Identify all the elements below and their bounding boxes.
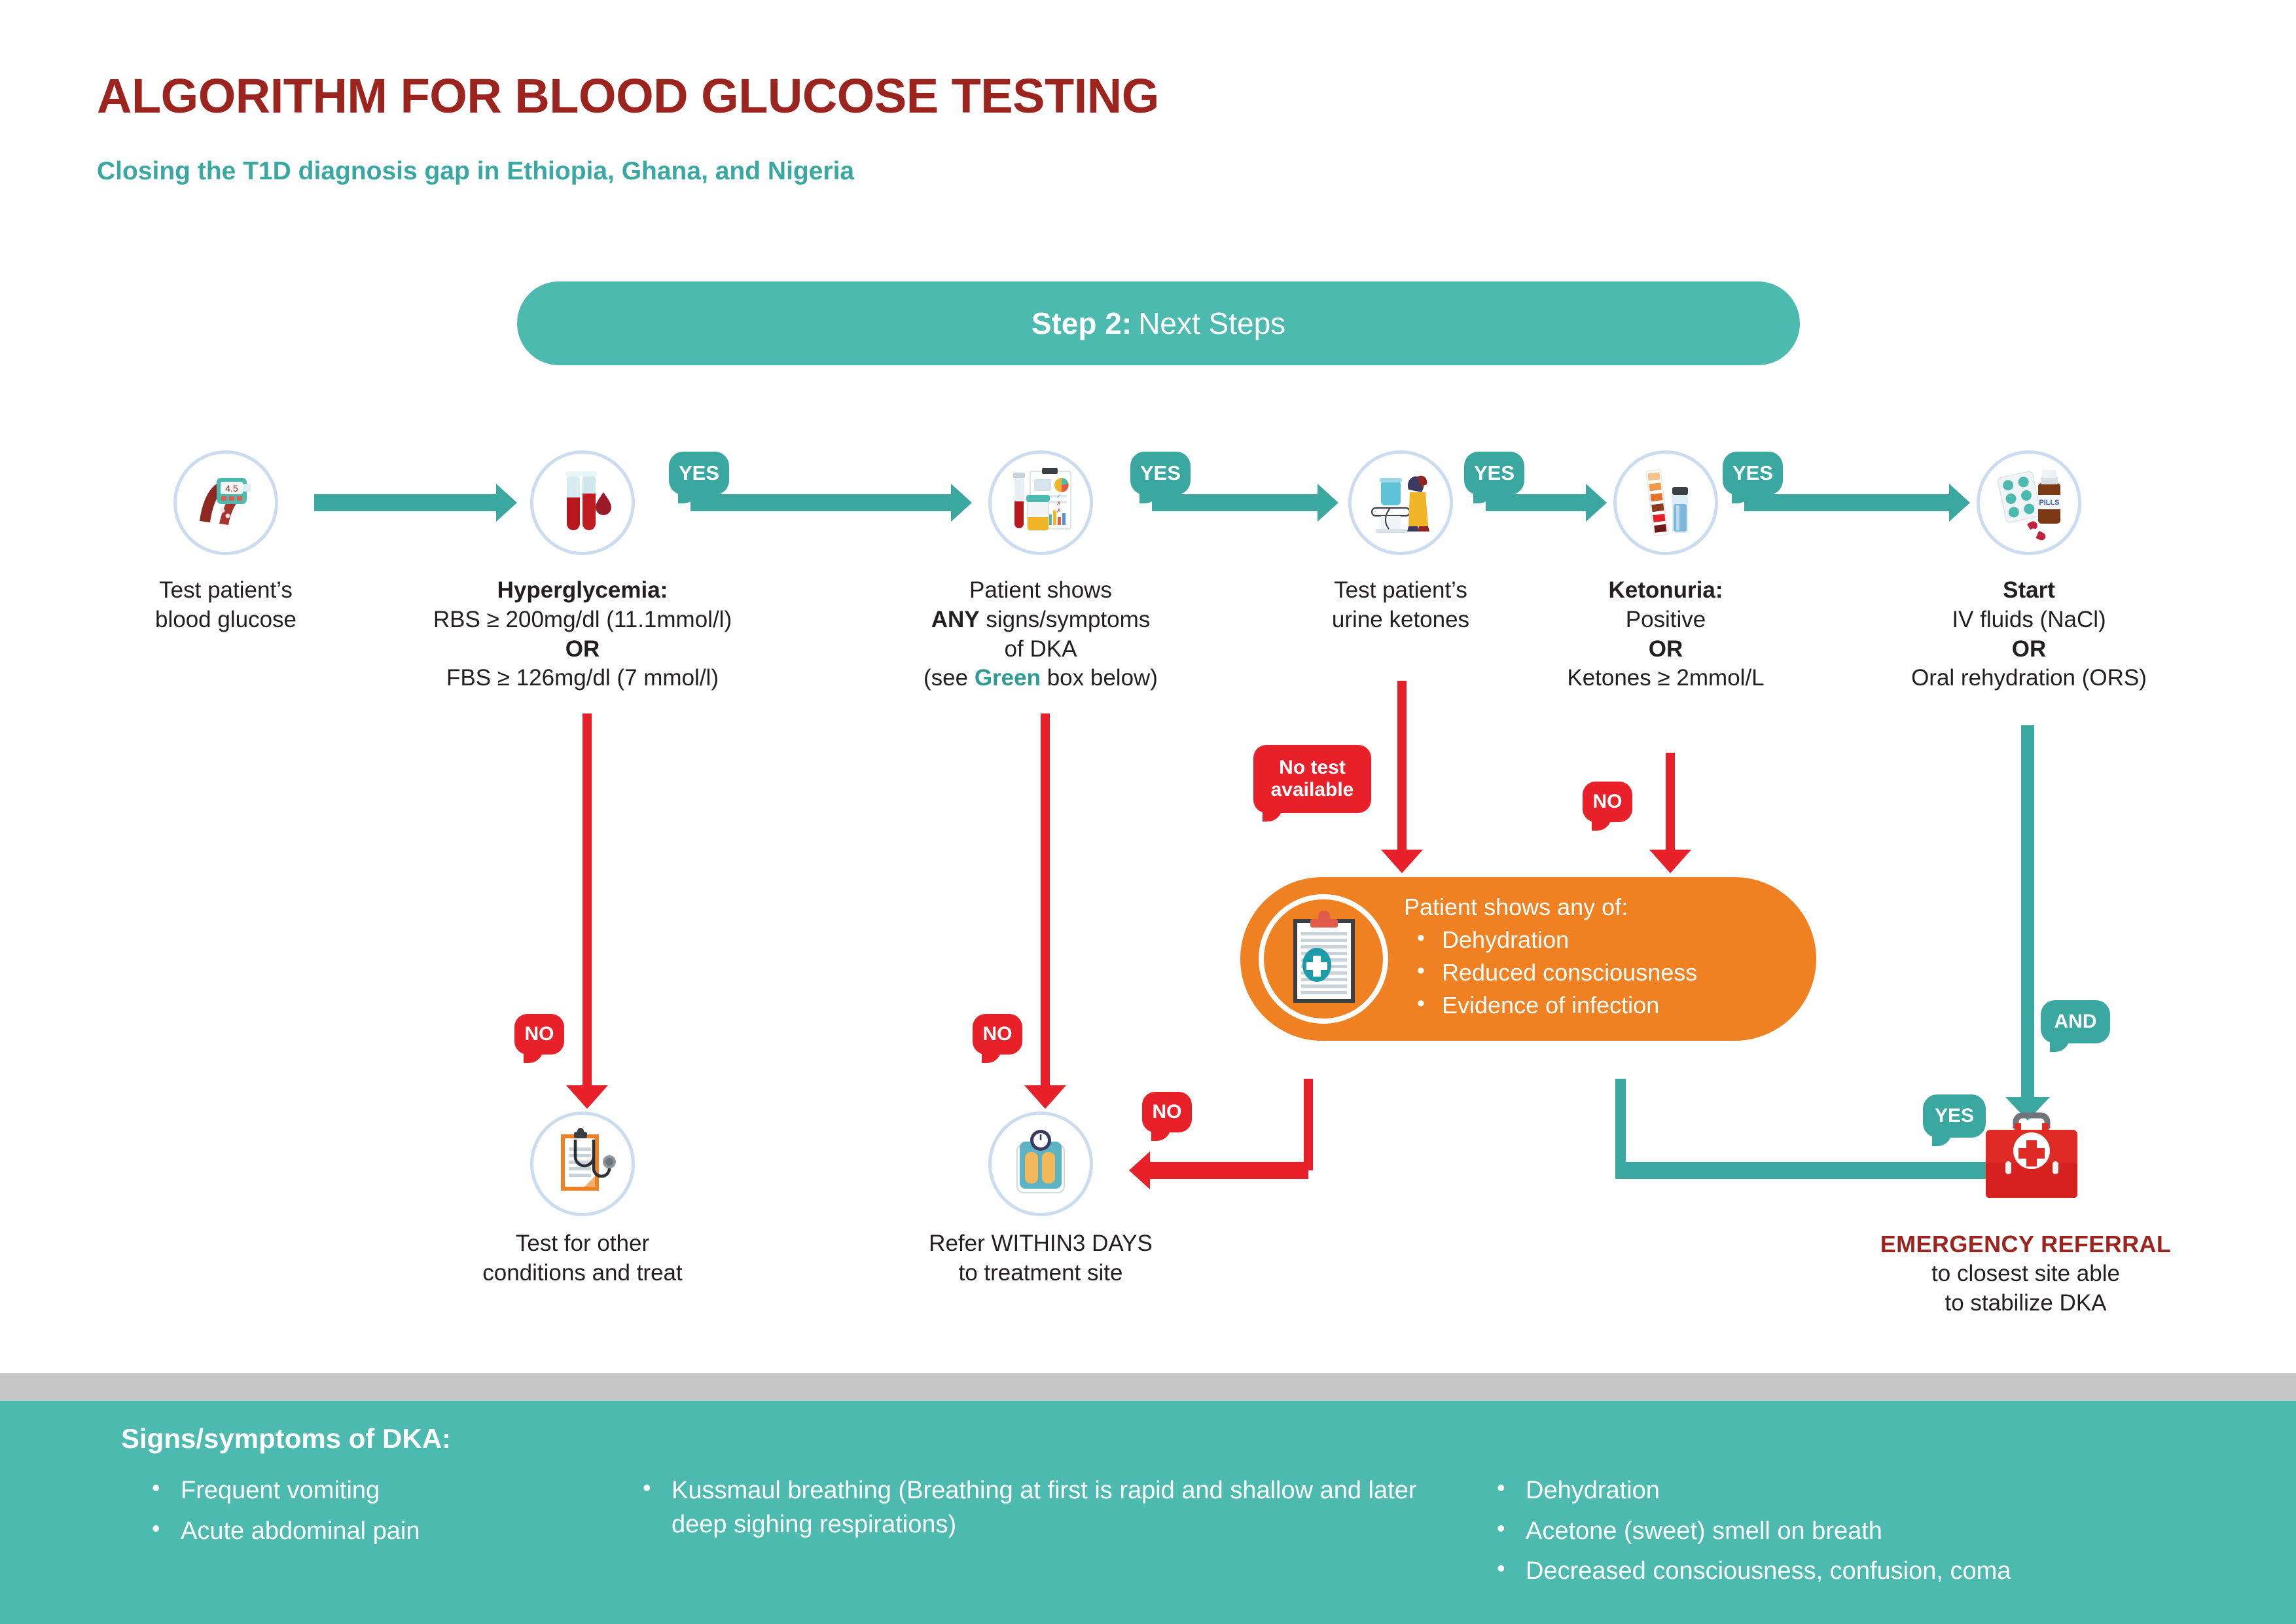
elbow-yes-orange-vertical [1615,1079,1626,1170]
svg-text:✓: ✓ [1056,493,1062,499]
pills-bottle-icon: PILLS [1977,450,2081,555]
svg-text:PILLS: PILLS [2039,499,2059,507]
orange-box-item: Evidence of infection [1442,994,1697,1017]
blood-test-tubes-icon [530,450,635,555]
node-label-start-fluids: Start IV fluids (NaCl) OR Oral rehydrati… [1852,576,2206,693]
node-label-dka-signs: Patient shows ANY signs/symptoms of DKA … [880,576,1201,693]
node-label-urine-ketones: Test patient’s urine ketones [1247,576,1554,635]
step-banner-step: Step 2: [1031,306,1132,341]
weight-scale-icon [988,1111,1093,1216]
dka-column-3: Dehydration Acetone (sweet) smell on bre… [1482,1474,2011,1595]
dka-list-item: Dehydration [1482,1474,2011,1508]
badge-and: AND [2041,1000,2110,1043]
badge-yes-ketonuria: YES [1723,452,1783,495]
dka-box-title: Signs/symptoms of DKA: [121,1423,451,1454]
outcome-label-test-other: Test for other conditions and treat [412,1229,753,1288]
arrow-no-dka-signs [1041,713,1050,1087]
arrow-no-orange-to-refer [1149,1162,1308,1179]
arrow-dka-signs-to-ketones [1152,494,1319,511]
orange-box-item: Reduced consciousness [1442,961,1697,984]
arrow-hyperglycemia-to-dka-signs [691,494,952,511]
arrow-no-ketonuria [1666,753,1675,851]
svg-text:✗: ✗ [1056,507,1062,514]
glucometer-icon: 4.5 [173,450,278,555]
dka-list-item: Acute abdominal pain [137,1515,420,1549]
badge-yes-hyperglycemia: YES [669,452,729,495]
dka-column-2: Kussmaul breathing (Breathing at first i… [628,1474,1433,1548]
clipboard-stethoscope-icon [530,1111,635,1216]
arrow-no-test-available [1397,681,1407,851]
node-label-test-glucose: Test patient’s blood glucose [75,576,376,635]
svg-text:✗: ✗ [1056,500,1062,507]
badge-no-test-available: No test available [1253,745,1371,813]
dka-column-1: Frequent vomiting Acute abdominal pain [137,1474,420,1555]
badge-no-ketonuria: NO [1583,782,1632,822]
node-label-ketonuria: Ketonuria: Positive OR Ketones ≥ 2mmol/L [1512,576,1820,693]
first-aid-kit-icon [1977,1106,2087,1206]
badge-no-orange-box: NO [1142,1092,1192,1132]
arrow-and-start-fluids [2021,725,2034,1098]
svg-text:4.5: 4.5 [225,483,238,494]
orange-box-item: Dehydration [1442,928,1697,952]
arrow-ketonuria-to-start [1744,494,1950,511]
orange-criteria-box: Patient shows any of: Dehydration Reduce… [1240,877,1816,1041]
orange-box-heading: Patient shows any of: [1404,895,1697,919]
ketone-test-strip-icon [1613,450,1718,555]
dka-list-item: Kussmaul breathing (Breathing at first i… [628,1474,1433,1542]
clipboard-medical-icon [1259,894,1388,1024]
arrow-glucose-to-hyperglycemia [314,494,497,511]
step-banner-text: Next Steps [1138,306,1285,341]
gray-divider-band [0,1373,2296,1401]
arrow-ketones-to-ketonuria [1486,494,1587,511]
page-title: ALGORITHM FOR BLOOD GLUCOSE TESTING [97,68,1159,124]
badge-yes-ketones: YES [1464,452,1524,495]
step-banner: Step 2: Next Steps [517,281,1800,365]
arrow-no-hyperglycemia [583,713,592,1087]
dka-list-item: Frequent vomiting [137,1474,420,1508]
orange-box-text: Patient shows any of: Dehydration Reduce… [1404,895,1697,1026]
toilet-patient-icon [1348,450,1453,555]
dka-list-item: Acetone (sweet) smell on breath [1482,1515,2011,1549]
elbow-no-orange-vertical [1304,1079,1313,1170]
badge-yes-dka-signs: YES [1130,452,1191,495]
node-label-hyperglycemia: Hyperglycemia: RBS ≥ 200mg/dl (11.1mmol/… [373,576,792,693]
outcome-label-refer-3-days: Refer WITHIN3 DAYS to treatment site [870,1229,1211,1288]
page-subtitle: Closing the T1D diagnosis gap in Ethiopi… [97,157,854,186]
badge-no-hyperglycemia: NO [514,1014,564,1055]
lab-report-icon: ✓ ✗ ✗ [988,450,1093,555]
badge-no-dka-signs: NO [973,1014,1022,1055]
dka-list-item: Decreased consciousness, confusion, coma [1482,1555,2011,1589]
outcome-label-emergency-referral: EMERGENCY REFERRAL to closest site able … [1852,1229,2199,1318]
arrow-yes-orange-to-emergency [1615,1162,1992,1179]
